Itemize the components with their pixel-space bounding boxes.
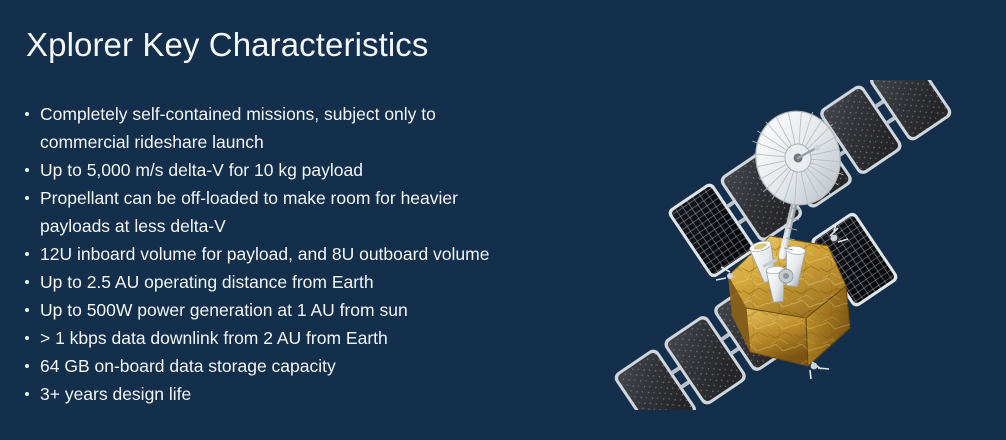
list-item: Up to 2.5 AU operating distance from Ear… bbox=[22, 268, 562, 296]
list-item: 3+ years design life bbox=[22, 380, 562, 408]
list-item-label: 64 GB on-board data storage capacity bbox=[40, 352, 562, 380]
bullet-marker-icon bbox=[22, 100, 40, 128]
list-item: 12U inboard volume for payload, and 8U o… bbox=[22, 240, 562, 268]
bullet-marker-icon bbox=[22, 268, 40, 296]
spacecraft-illustration bbox=[560, 80, 1006, 410]
list-item-label: Propellant can be off-loaded to make roo… bbox=[40, 184, 562, 212]
bullet-continuation-spacer bbox=[22, 128, 40, 156]
list-item: Up to 5,000 m/s delta-V for 10 kg payloa… bbox=[22, 156, 562, 184]
bullet-marker-icon bbox=[22, 324, 40, 352]
slide-root: Xplorer Key Characteristics Completely s… bbox=[0, 0, 1006, 440]
list-item-label: 3+ years design life bbox=[40, 380, 562, 408]
list-item: Up to 500W power generation at 1 AU from… bbox=[22, 296, 562, 324]
list-item: commercial rideshare launch bbox=[22, 128, 562, 156]
bullet-marker-icon bbox=[22, 184, 40, 212]
list-item-label: Up to 500W power generation at 1 AU from… bbox=[40, 296, 562, 324]
list-item-label: Completely self-contained missions, subj… bbox=[40, 100, 562, 128]
list-item: Completely self-contained missions, subj… bbox=[22, 100, 562, 128]
list-item-label: payloads at less delta-V bbox=[40, 212, 562, 240]
bullet-marker-icon bbox=[22, 296, 40, 324]
list-item: > 1 kbps data downlink from 2 AU from Ea… bbox=[22, 324, 562, 352]
bullet-marker-icon bbox=[22, 156, 40, 184]
bullet-continuation-spacer bbox=[22, 212, 40, 240]
bullet-marker-icon bbox=[22, 352, 40, 380]
list-item: Propellant can be off-loaded to make roo… bbox=[22, 184, 562, 212]
list-item: payloads at less delta-V bbox=[22, 212, 562, 240]
list-item-label: > 1 kbps data downlink from 2 AU from Ea… bbox=[40, 324, 562, 352]
list-item: 64 GB on-board data storage capacity bbox=[22, 352, 562, 380]
page-title: Xplorer Key Characteristics bbox=[26, 26, 429, 64]
bullet-marker-icon bbox=[22, 240, 40, 268]
list-item-label: Up to 2.5 AU operating distance from Ear… bbox=[40, 268, 562, 296]
key-characteristics-list: Completely self-contained missions, subj… bbox=[22, 100, 562, 408]
bullet-marker-icon bbox=[22, 380, 40, 408]
list-item-label: commercial rideshare launch bbox=[40, 128, 562, 156]
list-item-label: Up to 5,000 m/s delta-V for 10 kg payloa… bbox=[40, 156, 562, 184]
list-item-label: 12U inboard volume for payload, and 8U o… bbox=[40, 240, 562, 268]
